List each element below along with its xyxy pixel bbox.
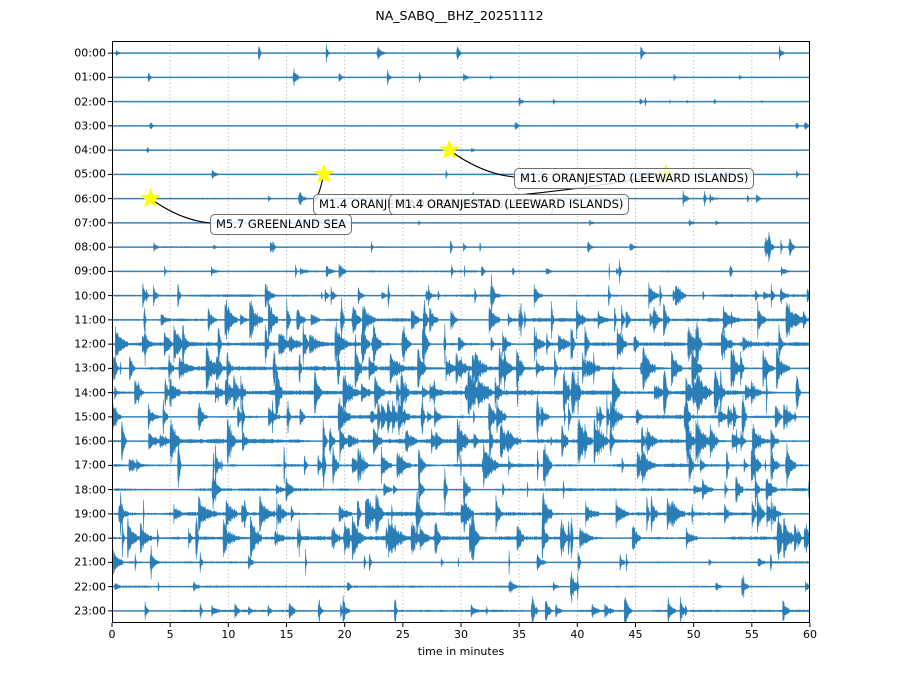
- x-tick-label-35: 35: [512, 628, 526, 641]
- x-tick-label-40: 40: [570, 628, 584, 641]
- x-axis-title: time in minutes: [112, 645, 810, 658]
- x-tick-label-0: 0: [109, 628, 116, 641]
- annot-oranjestad-b[interactable]: M1.4 ORANJESTAD (LEEWARD ISLANDS): [389, 194, 629, 215]
- x-tick-label-45: 45: [629, 628, 643, 641]
- x-tick-label-5: 5: [167, 628, 174, 641]
- x-axis-tick-labels: 051015202530354045505560: [0, 0, 919, 690]
- x-tick-label-25: 25: [396, 628, 410, 641]
- x-tick-label-55: 55: [745, 628, 759, 641]
- x-tick-label-50: 50: [687, 628, 701, 641]
- x-tick-label-10: 10: [221, 628, 235, 641]
- annot-greenland[interactable]: M5.7 GREENLAND SEA: [210, 214, 352, 235]
- x-tick-label-15: 15: [280, 628, 294, 641]
- annot-oranjestad-c[interactable]: M1.6 ORANJESTAD (LEEWARD ISLANDS): [514, 168, 754, 189]
- x-tick-label-60: 60: [803, 628, 817, 641]
- x-tick-label-20: 20: [338, 628, 352, 641]
- helicorder-figure: NA_SABQ__BHZ_20251112 00:0001:0002:0003:…: [0, 0, 919, 690]
- x-tick-label-30: 30: [454, 628, 468, 641]
